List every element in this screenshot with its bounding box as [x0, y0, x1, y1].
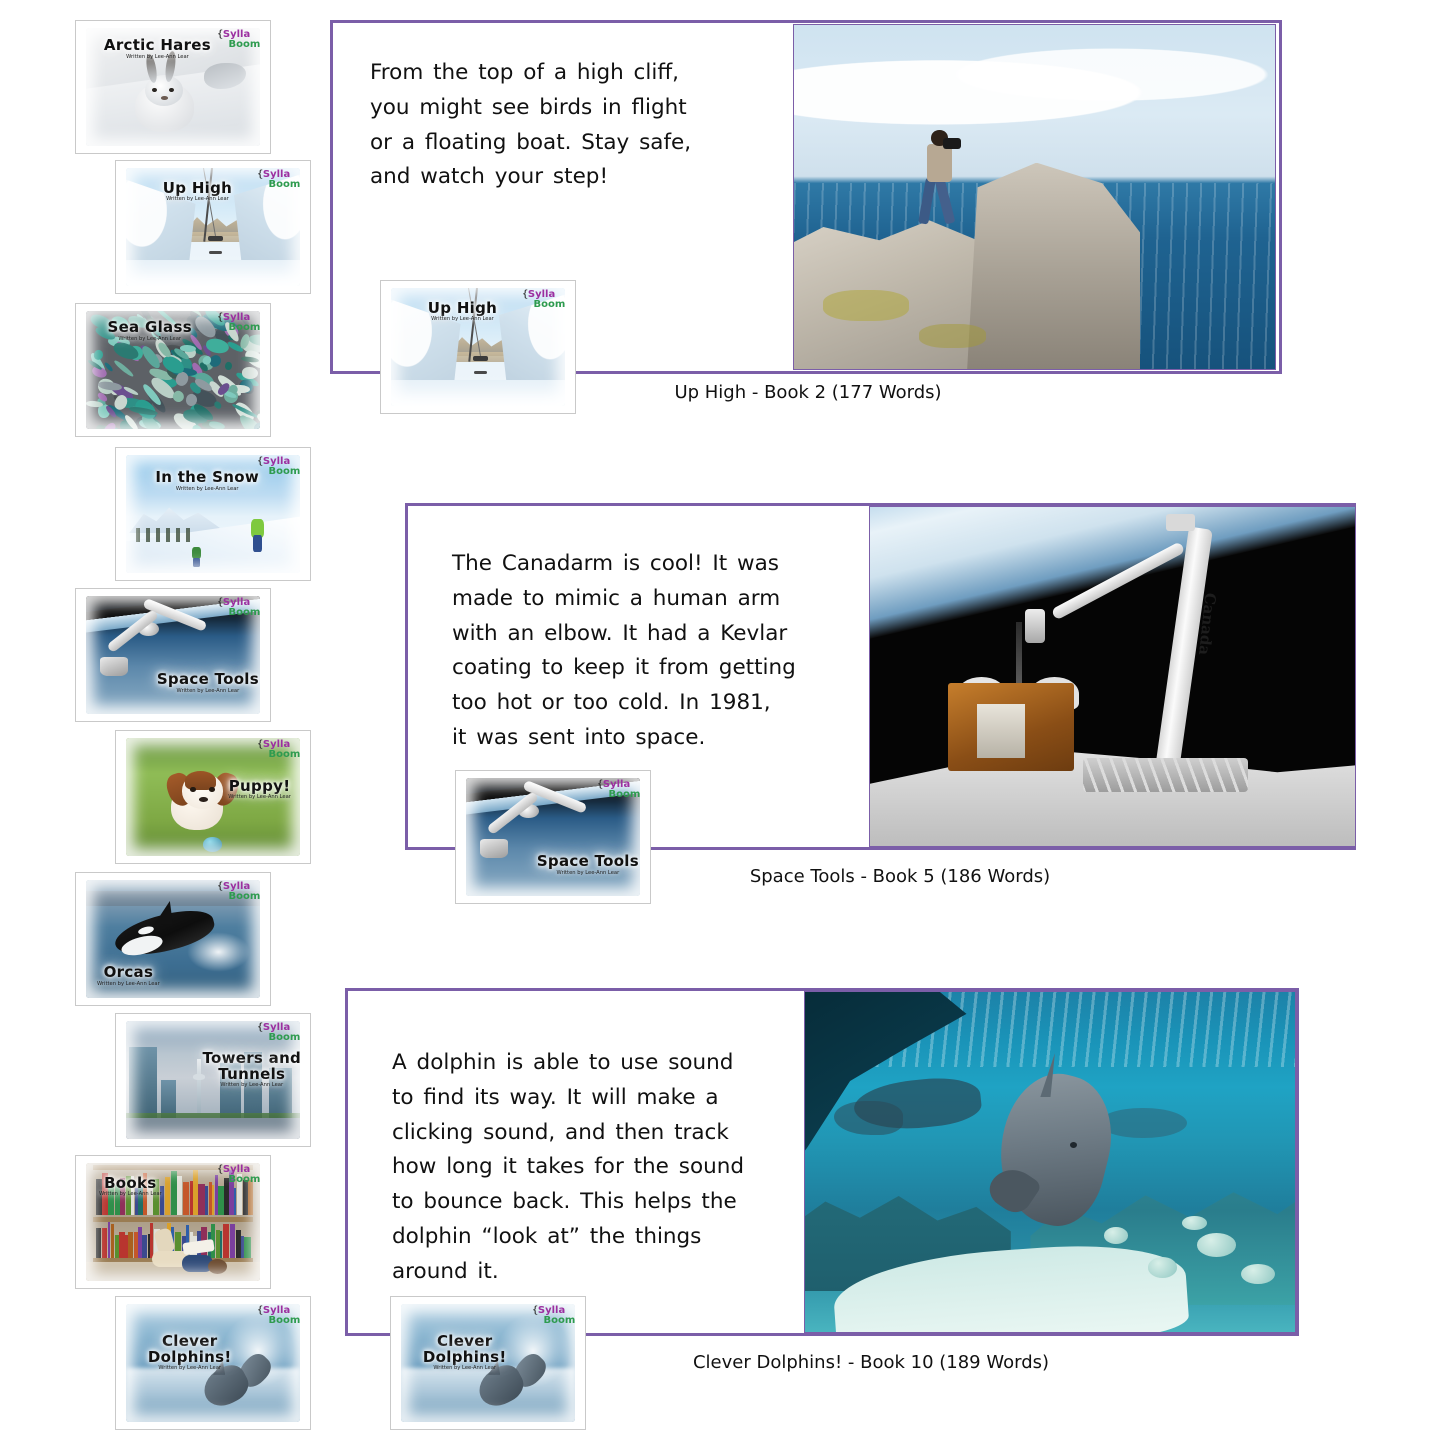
panel-cover-thumbnail-up-high[interactable]: Up High Written by Lee-Ann Lear {Sylla B… [380, 280, 576, 414]
cover-title: Arctic Hares Written by Lee-Ann Lear [88, 38, 228, 60]
cover-title: Up High Written by Lee-Ann Lear [143, 181, 252, 203]
book-thumbnail-towers-and-tunnels[interactable]: Towers and Tunnels Written by Lee-Ann Le… [115, 1013, 311, 1147]
cover-title: Clever Dolphins! Written by Lee-Ann Lear [139, 1318, 240, 1387]
cover-byline: Written by Lee-Ann Lear [143, 197, 252, 202]
book-thumbnail-sea-glass[interactable]: Sea Glass Written by Lee-Ann Lear {Sylla… [75, 303, 271, 437]
syllaboom-logo: {Sylla Boom [217, 598, 261, 618]
cover-byline: Written by Lee-Ann Lear [88, 55, 228, 60]
cover-byline: Written by Lee-Ann Lear [92, 1192, 170, 1197]
cover-title: Space Tools Written by Lee-Ann Lear [534, 854, 643, 876]
cover-byline: Written by Lee-Ann Lear [408, 317, 517, 322]
syllaboom-logo: {Sylla Boom [257, 1023, 301, 1043]
cover-byline: Written by Lee-Ann Lear [217, 795, 302, 800]
panel-caption-space-tools: Space Tools - Book 5 (186 Words) [740, 866, 1060, 887]
cover-byline: Written by Lee-Ann Lear [139, 1366, 240, 1371]
book-thumbnail-in-the-snow[interactable]: In the Snow Written by Lee-Ann Lear {Syl… [115, 447, 311, 581]
syllaboom-logo: {Sylla Boom [217, 30, 261, 50]
syllaboom-logo: {Sylla Boom [257, 457, 301, 477]
cover-title: Puppy! Written by Lee-Ann Lear [217, 779, 302, 801]
syllaboom-logo: {Sylla Boom [532, 1306, 576, 1326]
photographer-figure [919, 128, 962, 224]
cover-title: Towers and Tunnels Written by Lee-Ann Le… [197, 1035, 306, 1104]
cover-title: Clever Dolphins! Written by Lee-Ann Lear [414, 1318, 515, 1387]
cover-title: Sea Glass Written by Lee-Ann Lear [88, 320, 212, 342]
syllaboom-logo: {Sylla Boom [597, 780, 641, 800]
panel-caption-clever-dolphins: Clever Dolphins! - Book 10 (189 Words) [682, 1352, 1060, 1373]
book-thumbnail-space-tools[interactable]: Space Tools Written by Lee-Ann Lear {Syl… [75, 588, 271, 722]
panel-cover-thumbnail-space-tools[interactable]: Space Tools Written by Lee-Ann Lear {Syl… [455, 770, 651, 904]
cover-byline: Written by Lee-Ann Lear [143, 487, 271, 492]
panel-text-up-high: From the top of a high cliff, you might … [370, 56, 770, 195]
book-thumbnail-books[interactable]: Books Written by Lee-Ann Lear {Sylla Boo… [75, 1155, 271, 1289]
cover-title: Space Tools Written by Lee-Ann Lear [154, 672, 263, 694]
syllaboom-logo: {Sylla Boom [217, 313, 261, 333]
cover-title: Up High Written by Lee-Ann Lear [408, 301, 517, 323]
panel-text-clever-dolphins: A dolphin is able to use sound to find i… [392, 1046, 792, 1290]
panel-caption-up-high: Up High - Book 2 (177 Words) [663, 382, 953, 403]
book-thumbnail-arctic-hares[interactable]: Arctic Hares Written by Lee-Ann Lear {Sy… [75, 20, 271, 154]
page-canvas: Arctic Hares Written by Lee-Ann Lear {Sy… [0, 0, 1445, 1445]
panel-cover-thumbnail-clever-dolphins[interactable]: Clever Dolphins! Written by Lee-Ann Lear… [390, 1296, 586, 1430]
cover-byline: Written by Lee-Ann Lear [88, 337, 212, 342]
panel-photo-dolphins-underwater-reef [804, 991, 1296, 1333]
cover-byline: Written by Lee-Ann Lear [534, 871, 643, 876]
book-thumbnail-up-high[interactable]: Up High Written by Lee-Ann Lear {Sylla B… [115, 160, 311, 294]
cover-byline: Written by Lee-Ann Lear [90, 982, 168, 987]
panel-photo-photographer-on-cliff [793, 24, 1276, 370]
panel-photo-canadarm-shuttle-bay: Canada [869, 506, 1356, 847]
syllaboom-logo: {Sylla Boom [257, 170, 301, 190]
cover-byline: Written by Lee-Ann Lear [414, 1366, 515, 1371]
panel-text-space-tools: The Canadarm is cool! It was made to mim… [452, 547, 852, 756]
syllaboom-logo: {Sylla Boom [522, 290, 566, 310]
cover-title: In the Snow Written by Lee-Ann Lear [143, 470, 271, 492]
cover-byline: Written by Lee-Ann Lear [154, 689, 263, 694]
cover-title: Orcas Written by Lee-Ann Lear [90, 965, 168, 987]
book-thumbnail-puppy[interactable]: Puppy! Written by Lee-Ann Lear {Sylla Bo… [115, 730, 311, 864]
cover-title: Books Written by Lee-Ann Lear [92, 1176, 170, 1198]
syllaboom-logo: {Sylla Boom [217, 1165, 261, 1185]
book-thumbnail-clever-dolphins[interactable]: Clever Dolphins! Written by Lee-Ann Lear… [115, 1296, 311, 1430]
syllaboom-logo: {Sylla Boom [257, 1306, 301, 1326]
book-thumbnail-orcas[interactable]: Orcas Written by Lee-Ann Lear {Sylla Boo… [75, 872, 271, 1006]
syllaboom-logo: {Sylla Boom [257, 740, 301, 760]
cover-byline: Written by Lee-Ann Lear [197, 1083, 306, 1088]
syllaboom-logo: {Sylla Boom [217, 882, 261, 902]
